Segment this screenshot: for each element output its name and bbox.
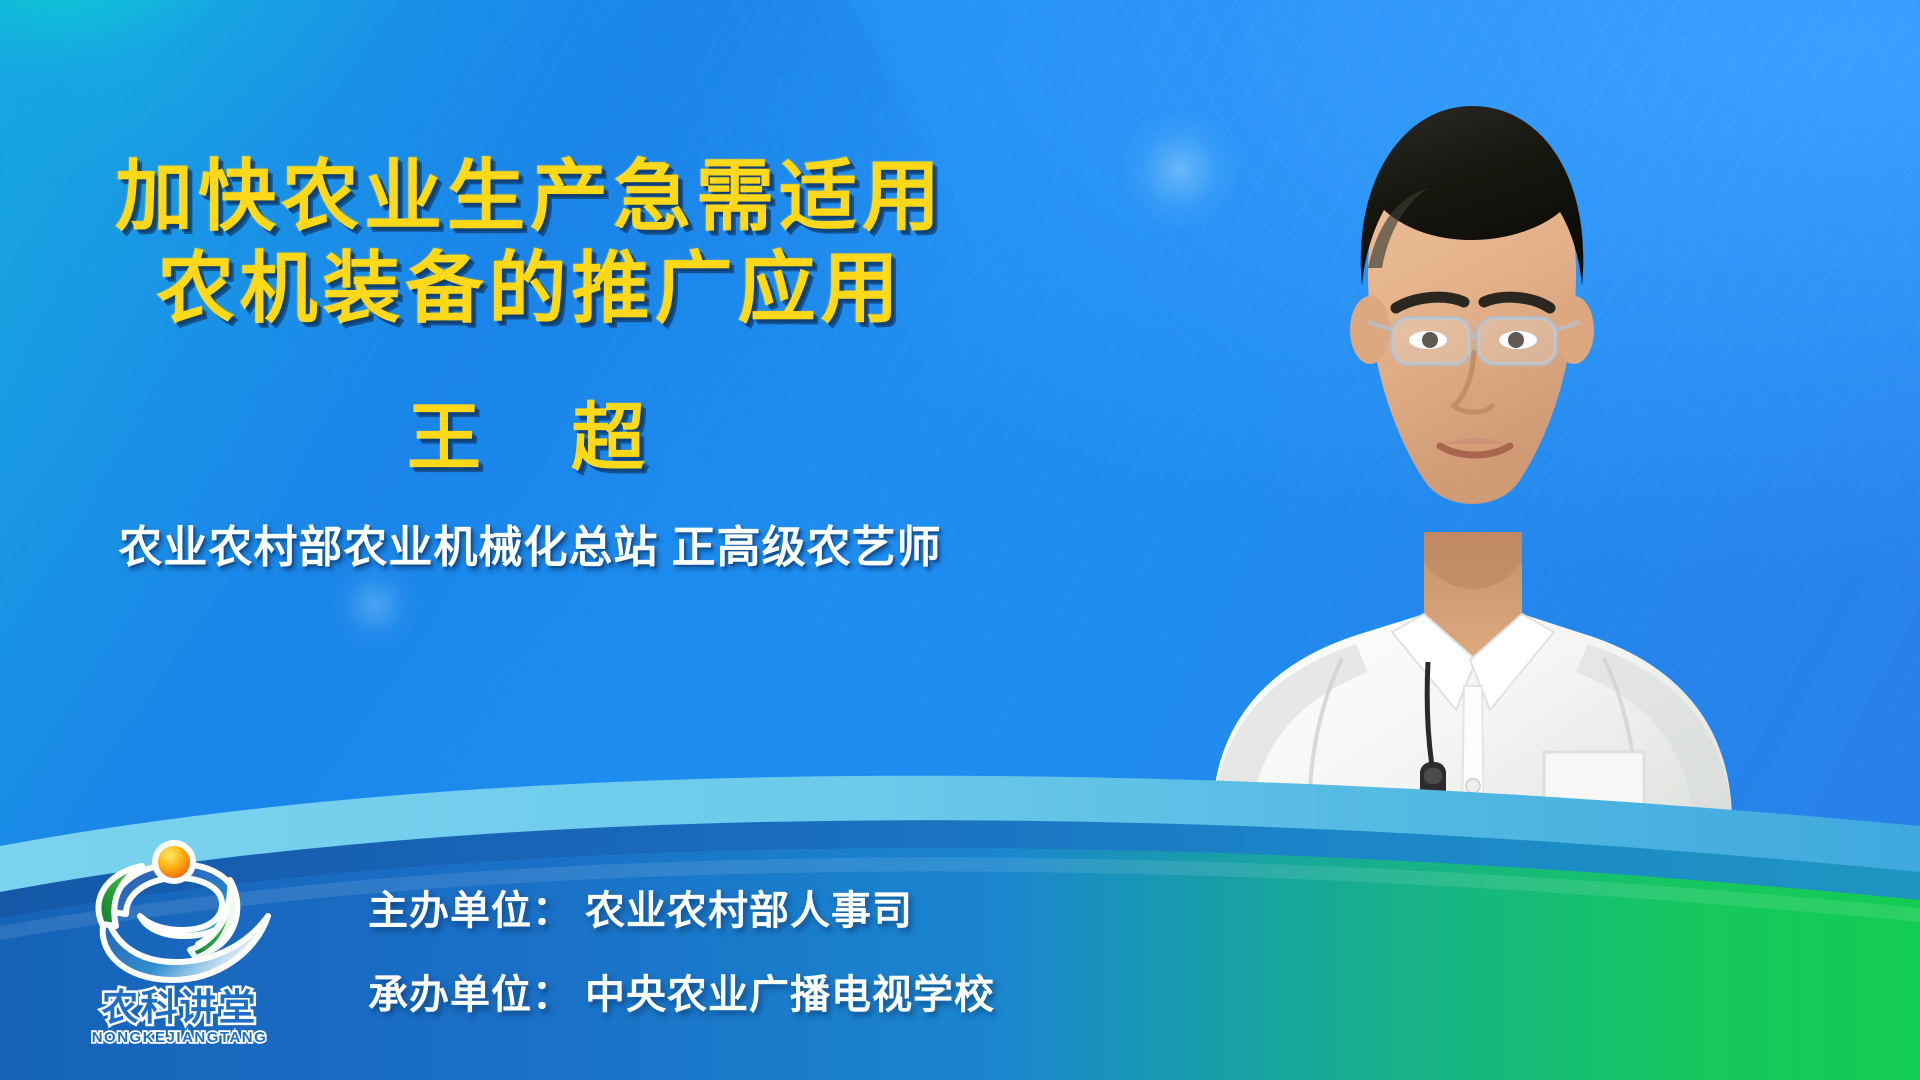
organizer-line: 承办单位：中央农业广播电视学校 (368, 962, 995, 1020)
speaker-name: 王 超 (0, 378, 1060, 485)
organizer-value: 中央农业广播电视学校 (585, 973, 995, 1017)
host-value: 农业农村部人事司 (585, 889, 913, 933)
logo-name-en: NONGKEJIANGTANG (72, 1029, 287, 1046)
nongke-jiangtang-logo: 农科讲堂 NONGKEJIANGTANG (72, 838, 287, 1038)
organizer-info: 主办单位：农业农村部人事司 承办单位：中央农业广播电视学校 (368, 878, 995, 1020)
course-title-line-1: 加快农业生产急需适用 (0, 150, 1060, 242)
footer-bar: 农科讲堂 NONGKEJIANGTANG 主办单位：农业农村部人事司 承办单位：… (0, 770, 1920, 1080)
organizer-label: 承办单位： (368, 973, 573, 1017)
logo-name-cn: 农科讲堂 (72, 989, 287, 1026)
host-label: 主办单位： (368, 889, 573, 933)
course-title-line-2: 农机装备的推广应用 (0, 242, 1060, 334)
presentation-title-slide: 加快农业生产急需适用 农机装备的推广应用 王 超 农业农村部农业机械化总站 正高… (0, 0, 1920, 1080)
host-line: 主办单位：农业农村部人事司 (368, 878, 995, 936)
title-text-block: 加快农业生产急需适用 农机装备的推广应用 王 超 农业农村部农业机械化总站 正高… (0, 150, 1060, 575)
speaker-affiliation: 农业农村部农业机械化总站 正高级农艺师 (0, 511, 1060, 575)
